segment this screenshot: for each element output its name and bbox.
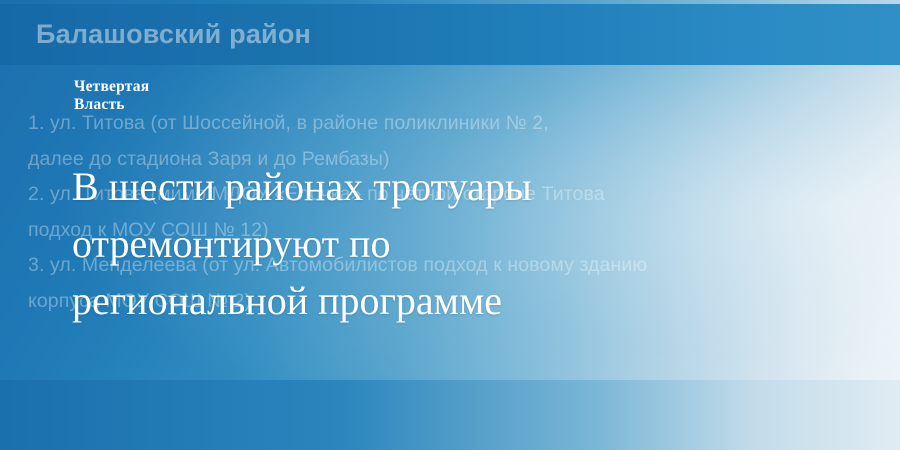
background-text-line: 1. ул. Титова (от Шоссейной, в районе по…: [28, 106, 900, 142]
background-bottom-fade: [0, 380, 900, 450]
section-band-top-title: Балашовский район: [36, 19, 311, 50]
headline-line-2: отремонтируют по: [72, 215, 832, 272]
site-logo[interactable]: Четвертая Власть: [74, 78, 149, 114]
article-headline[interactable]: В шести районах тротуары отремонтируют п…: [72, 158, 832, 329]
article-hero-card: 1. ул. Титова (от Шоссейной, в районе по…: [0, 0, 900, 450]
headline-line-1: В шести районах тротуары: [72, 158, 832, 215]
site-logo-line-1: Четвертая: [74, 78, 149, 95]
section-band-top: Балашовский район: [0, 4, 900, 65]
headline-line-3: региональной программе: [72, 272, 832, 329]
site-logo-line-2: Власть: [74, 96, 149, 114]
